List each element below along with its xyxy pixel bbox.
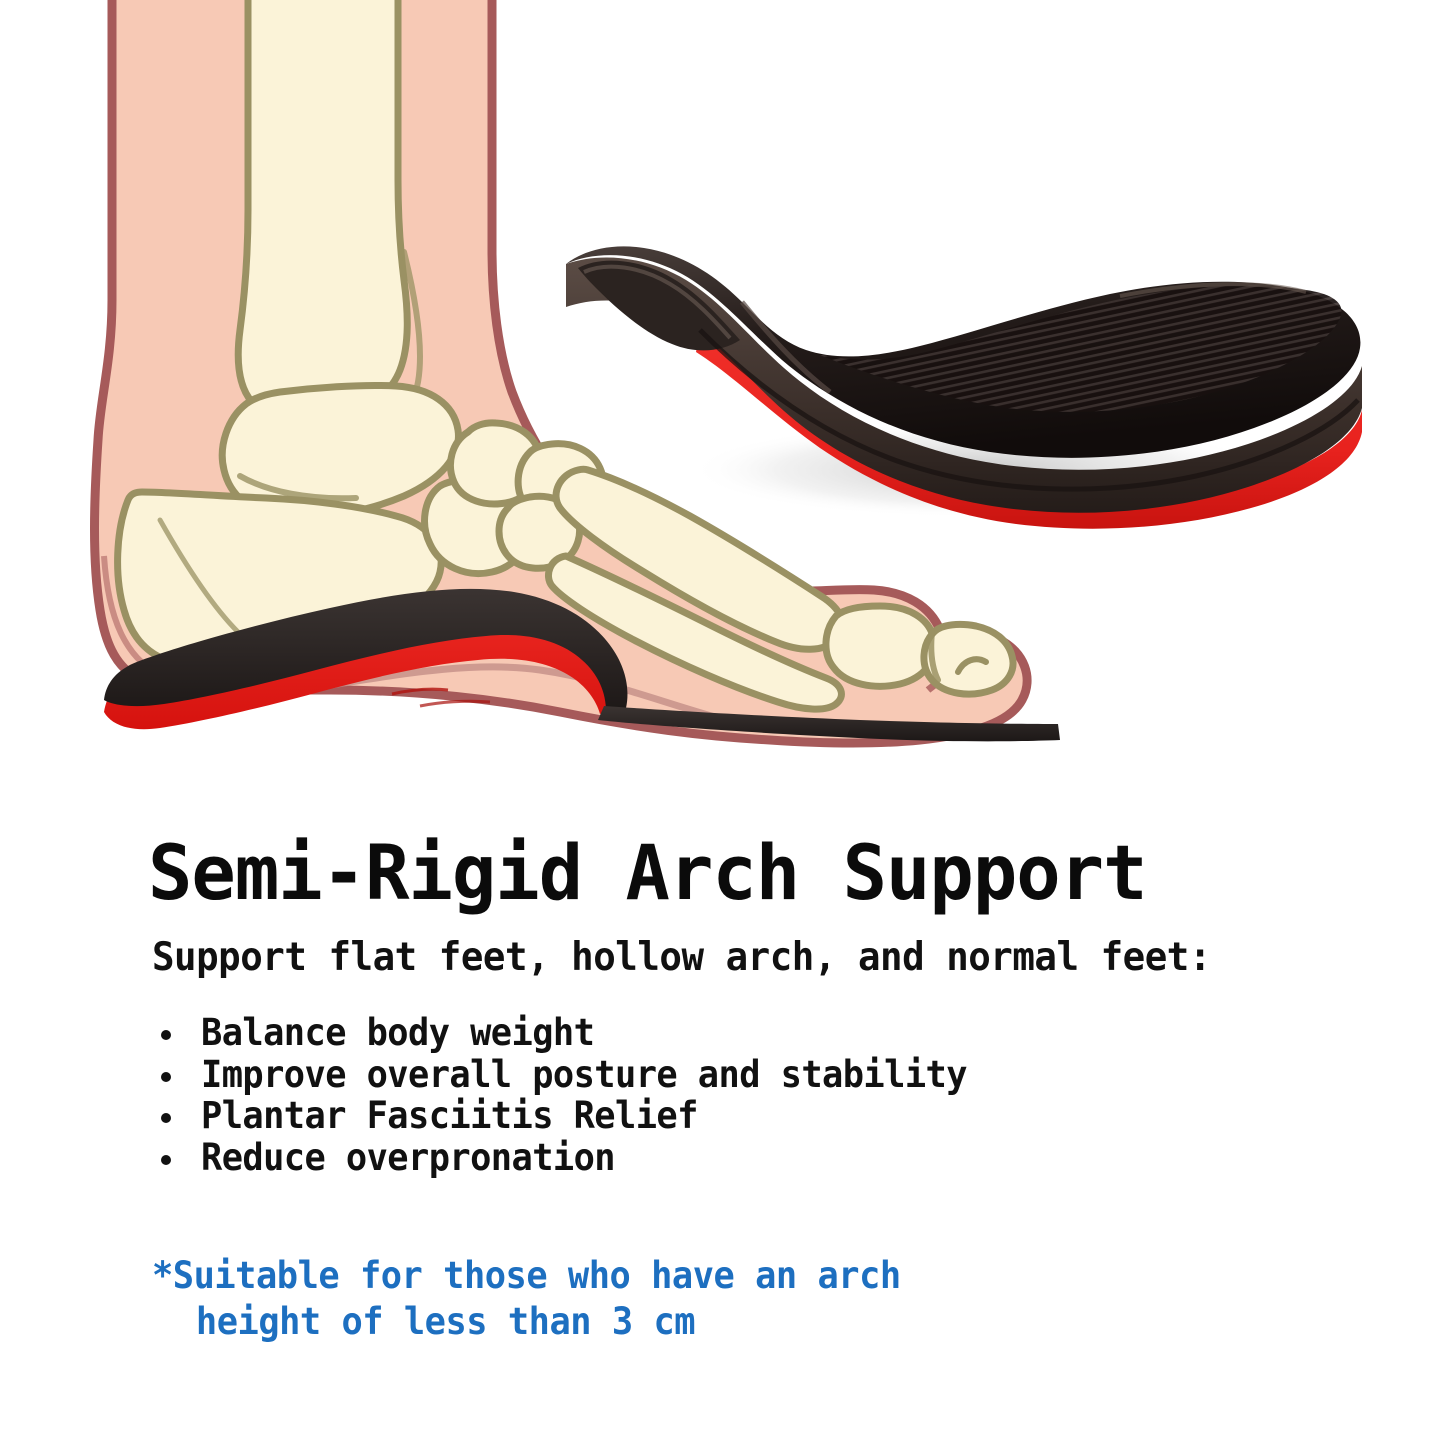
benefit-label: Improve overall posture and stability bbox=[201, 1054, 967, 1096]
bullet-icon bbox=[161, 1113, 171, 1123]
note-line-2: height of less than 3 cm bbox=[152, 1299, 901, 1345]
list-item: Improve overall posture and stability bbox=[158, 1054, 1003, 1096]
bullet-icon bbox=[161, 1155, 171, 1165]
suitability-note: *Suitable for those who have an arch hei… bbox=[152, 1253, 936, 1345]
product-infographic: Semi-Rigid Arch Support Support flat fee… bbox=[0, 0, 1445, 1445]
bullet-icon bbox=[161, 1072, 171, 1082]
list-item: Reduce overpronation bbox=[158, 1137, 1003, 1179]
page-title: Semi-Rigid Arch Support bbox=[148, 835, 1147, 911]
foot-anatomy-illustration bbox=[0, 0, 1445, 800]
page-subtitle: Support flat feet, hollow arch, and norm… bbox=[152, 938, 1211, 977]
benefit-label: Plantar Fasciitis Relief bbox=[201, 1095, 698, 1137]
product-copy-block: Semi-Rigid Arch Support Support flat fee… bbox=[0, 800, 1445, 1445]
note-line-1: *Suitable for those who have an arch bbox=[152, 1253, 901, 1299]
list-item: Plantar Fasciitis Relief bbox=[158, 1095, 1003, 1137]
benefit-label: Balance body weight bbox=[201, 1012, 594, 1054]
bullet-icon bbox=[161, 1030, 171, 1040]
benefits-list: Balance body weight Improve overall post… bbox=[158, 1012, 1003, 1178]
benefit-label: Reduce overpronation bbox=[201, 1137, 615, 1179]
list-item: Balance body weight bbox=[158, 1012, 1003, 1054]
